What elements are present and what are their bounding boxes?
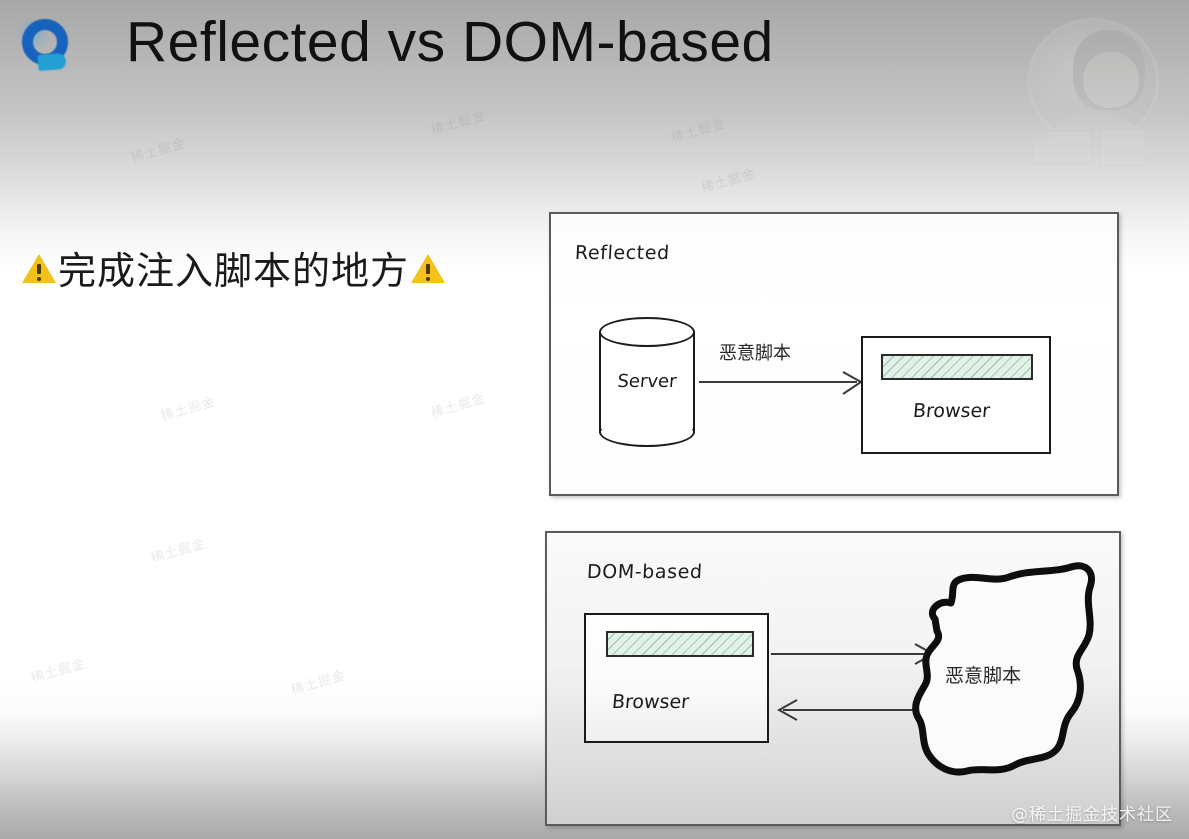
browser-box: Browser [861,336,1051,454]
brand-logo-icon [16,14,78,76]
avatar-hair [1073,30,1145,110]
malicious-script-blob-label: 恶意脚本 [945,661,1021,688]
browser-box: Browser [584,613,769,743]
background-watermark-tile: 稀土掘金 [428,388,487,422]
background-watermark-tile: 稀土掘金 [668,113,727,147]
avatar-background-pane [1031,130,1093,164]
injected-script-bar [606,631,754,657]
background-watermark-tile: 稀土掘金 [148,533,207,567]
caption-text: 完成注入脚本的地方 [58,240,409,295]
injected-script-bar [881,354,1033,380]
background-watermark-tile: 稀土掘金 [28,653,87,687]
warning-triangle-icon [411,251,445,285]
slide-canvas: 稀土掘金 稀土掘金 稀土掘金 稀土掘金 稀土掘金 稀土掘金 稀土掘金 稀土掘金 … [0,0,1189,839]
warning-triangle-icon [22,251,56,285]
server-label: Server [598,371,696,392]
background-watermark-tile: 稀土掘金 [428,105,487,139]
avatar-halo [1027,18,1159,144]
decorative-avatar-image [1013,6,1163,156]
dom-panel-label: DOM-based [586,561,703,583]
background-watermark-tile: 稀土掘金 [128,133,187,167]
page-title: Reflected vs DOM-based [126,10,774,76]
reflected-arrow-label: 恶意脚本 [719,339,791,365]
background-watermark-tile: 稀土掘金 [698,163,757,197]
browser-label: Browser [611,691,690,713]
avatar-background-pane [1099,128,1147,166]
corner-watermark: @稀土掘金技术社区 [1011,800,1173,825]
server-cylinder: Server [599,317,695,447]
reflected-panel-label: Reflected [574,242,670,264]
cylinder-top-ellipse [599,317,695,347]
caption-line: 完成注入脚本的地方 [22,240,445,295]
logo-tail [37,53,66,71]
reflected-diagram-panel: Reflected Server 恶意脚本 Browser [549,212,1119,496]
background-watermark-tile: 稀土掘金 [158,391,217,425]
dom-based-diagram-panel: DOM-based Browser 恶意脚本 [545,531,1121,826]
browser-label: Browser [912,400,991,422]
background-watermark-tile: 稀土掘金 [288,665,347,699]
avatar-body [1043,114,1147,162]
avatar-face [1083,52,1139,108]
